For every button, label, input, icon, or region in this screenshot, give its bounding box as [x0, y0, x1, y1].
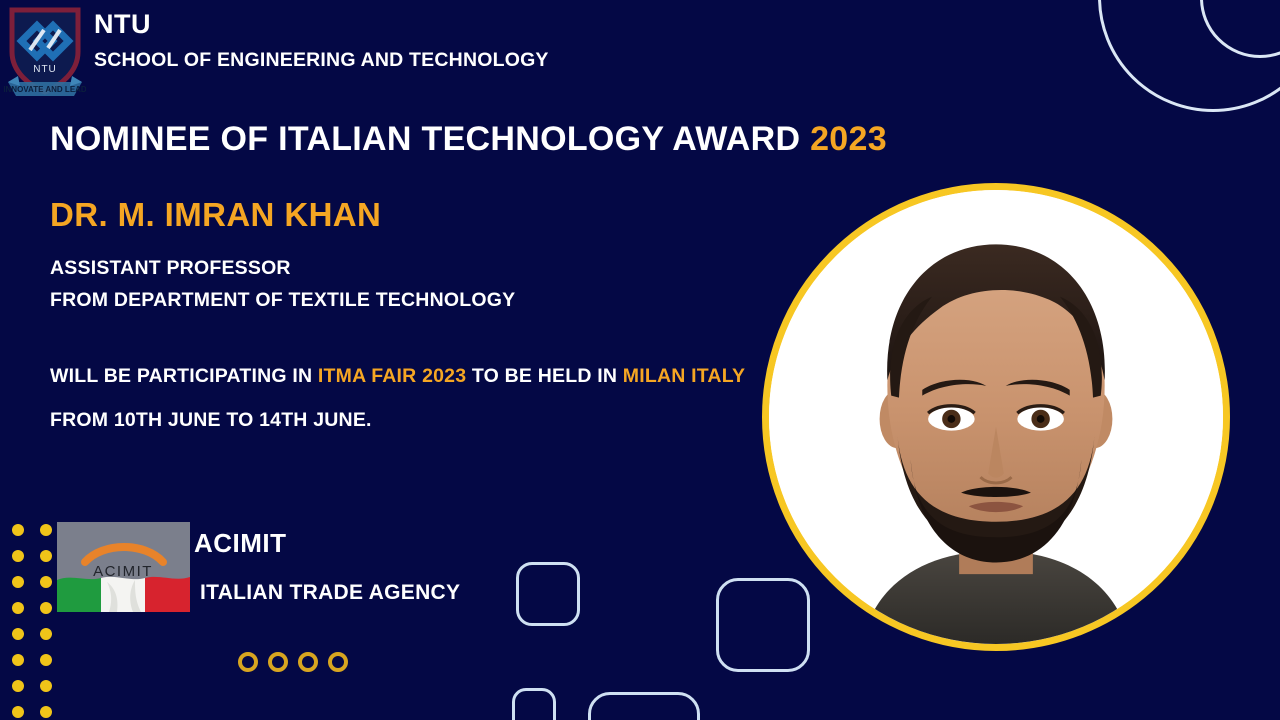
- grid-dot: [40, 654, 52, 666]
- partner-text-block: ACIMIT ITALIAN TRADE AGENCY: [194, 528, 460, 605]
- header-text-block: NTU SCHOOL OF ENGINEERING AND TECHNOLOGY: [94, 4, 549, 71]
- participation-city: MILAN: [623, 365, 686, 387]
- acimit-italian-flag-logo: ACIMIT: [57, 522, 190, 612]
- rounded-square-outline: [512, 688, 556, 720]
- poster-canvas: NTU INNOVATE AND LEAD NTU SCHOOL OF ENGI…: [0, 0, 1280, 720]
- partner-name: ACIMIT: [194, 528, 460, 559]
- grid-dot: [12, 602, 24, 614]
- grid-dot: [12, 524, 24, 536]
- grid-dot: [40, 706, 52, 718]
- partner-subtitle: ITALIAN TRADE AGENCY: [194, 581, 460, 605]
- rounded-square-outline: [588, 692, 700, 720]
- grid-dot: [12, 628, 24, 640]
- poster-header: NTU INNOVATE AND LEAD NTU SCHOOL OF ENGI…: [0, 0, 549, 100]
- gold-ring: [268, 652, 288, 672]
- nominee-title: ASSISTANT PROFESSOR: [50, 253, 515, 285]
- page-title: NOMINEE OF ITALIAN TECHNOLOGY AWARD 2023: [50, 120, 887, 159]
- participation-middle: TO BE HELD IN: [466, 365, 623, 387]
- grid-dot: [40, 628, 52, 640]
- university-abbrev: NTU: [94, 10, 549, 40]
- grid-dot: [40, 576, 52, 588]
- grid-dot: [40, 602, 52, 614]
- participation-statement: WILL BE PARTICIPATING IN ITMA FAIR 2023 …: [50, 354, 780, 443]
- gold-ring: [238, 652, 258, 672]
- headline-main: NOMINEE OF ITALIAN TECHNOLOGY AWARD: [50, 120, 800, 158]
- rounded-square-outline: [516, 562, 580, 626]
- gold-ring: [328, 652, 348, 672]
- grid-dot: [12, 550, 24, 562]
- nominee-role-block: ASSISTANT PROFESSOR FROM DEPARTMENT OF T…: [50, 253, 515, 316]
- grid-dot: [40, 550, 52, 562]
- ntu-shield-crest-icon: NTU INNOVATE AND LEAD: [4, 4, 86, 100]
- grid-dot: [12, 680, 24, 692]
- svg-text:NTU: NTU: [33, 64, 57, 75]
- grid-dot: [40, 524, 52, 536]
- grid-dot: [12, 654, 24, 666]
- school-name: SCHOOL OF ENGINEERING AND TECHNOLOGY: [94, 50, 549, 71]
- headline-year: 2023: [810, 120, 887, 158]
- grid-dot: [40, 680, 52, 692]
- svg-text:INNOVATE AND LEAD: INNOVATE AND LEAD: [4, 85, 86, 94]
- nominee-department: FROM DEPARTMENT OF TEXTILE TECHNOLOGY: [50, 285, 515, 317]
- participation-dates: FROM 10TH JUNE TO 14TH JUNE.: [50, 409, 372, 431]
- avatar: [762, 183, 1230, 651]
- portrait-photo: [769, 190, 1223, 644]
- participation-country: ITALY: [691, 365, 745, 387]
- gold-ring: [298, 652, 318, 672]
- rounded-square-outline: [716, 578, 810, 672]
- grid-dot: [12, 706, 24, 718]
- participation-event: ITMA FAIR 2023: [318, 365, 466, 387]
- participation-prefix: WILL BE PARTICIPATING IN: [50, 365, 318, 387]
- nominee-name: DR. M. IMRAN KHAN: [50, 196, 381, 234]
- grid-dot: [12, 576, 24, 588]
- svg-text:ACIMIT: ACIMIT: [93, 563, 153, 580]
